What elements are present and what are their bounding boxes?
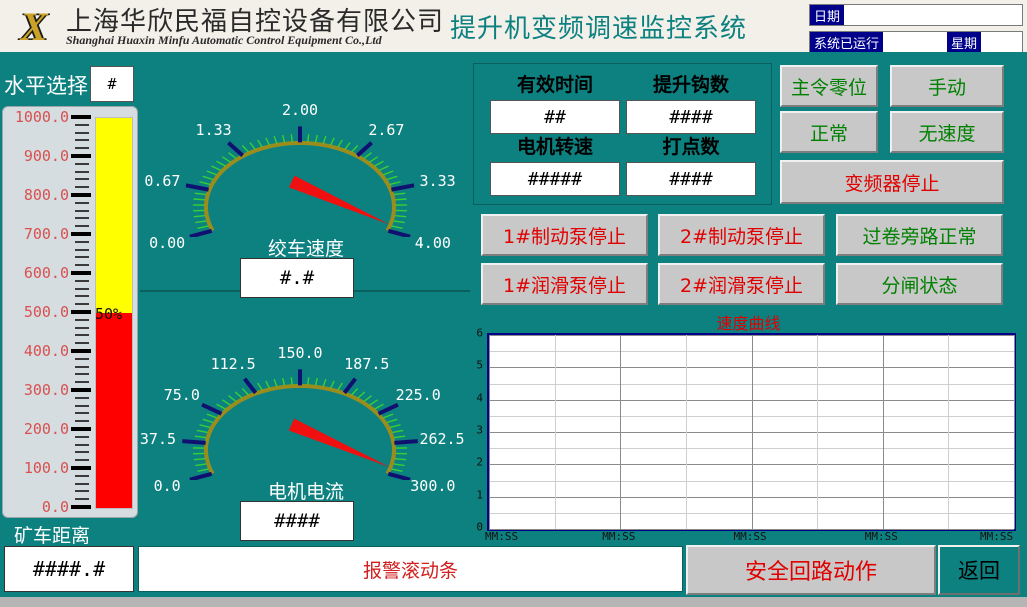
gauge-minor-tick <box>229 396 237 402</box>
field-hoist-hook-count: 提升钩数 #### <box>626 70 756 134</box>
gauge-minor-tick <box>387 176 397 179</box>
gauge-needle <box>289 176 389 225</box>
mine-car-distance-value: ####.# <box>4 546 134 592</box>
data-field-panel: 有效时间 ## 提升钩数 #### 电机转速 ##### 打点数 #### <box>473 63 772 205</box>
bar-tick-minor <box>75 303 89 305</box>
gauge-major-tick <box>391 185 414 189</box>
runtime-label: 系统已运行 <box>810 32 883 52</box>
gauge-tick-label: 2.00 <box>282 101 318 119</box>
gauge-minor-tick <box>207 171 217 175</box>
chart-y-tick-label: 5 <box>469 359 483 372</box>
bar-tick-label: 800.0 <box>24 186 69 204</box>
gauge-tick-label: 3.33 <box>420 172 456 190</box>
gauge-needle <box>289 419 390 467</box>
gauge-minor-tick <box>250 143 255 150</box>
gauge-minor-tick <box>394 436 405 437</box>
gauge-minor-tick <box>195 464 206 466</box>
gauge-minor-tick <box>323 136 326 143</box>
bar-tick-minor <box>75 241 89 243</box>
weekday-value[interactable] <box>981 32 1007 52</box>
gauge-minor-tick <box>229 153 237 159</box>
field-value: ##### <box>490 162 620 196</box>
bar-tick-minor <box>75 171 89 173</box>
gauge-minor-tick <box>193 199 204 200</box>
bar-tick-minor <box>75 280 89 282</box>
bar-scale: 1000.0900.0800.0700.0600.0500.0400.0300.… <box>7 113 93 511</box>
chart-y-tick-label: 2 <box>469 456 483 469</box>
bar-tick-major <box>71 388 91 392</box>
bar-tick-minor <box>75 373 89 375</box>
gauge-motor-current: 0.037.575.0112.5150.0187.5225.0262.5300.… <box>146 305 466 537</box>
status-button-overwind-bypass-normal[interactable]: 过卷旁路正常 <box>836 214 1003 256</box>
gauge-minor-tick <box>258 140 262 147</box>
gauge-minor-tick <box>370 400 378 405</box>
chart-y-tick-label: 6 <box>469 327 483 340</box>
gauge-tick-label: 0.67 <box>144 172 180 190</box>
field-value: ## <box>490 100 620 134</box>
gauge-minor-tick <box>323 379 326 386</box>
gauge-minor-tick <box>197 430 208 432</box>
gauge-minor-tick <box>222 157 230 162</box>
bar-tick-minor <box>75 397 89 399</box>
gauge-minor-tick <box>352 146 358 152</box>
status-button-safety-circuit-action[interactable]: 安全回路动作 <box>686 545 936 595</box>
gauge-minor-tick <box>338 140 342 147</box>
gauge-minor-tick <box>283 378 285 386</box>
bar-tick-minor <box>75 295 89 297</box>
bar-tick-major <box>71 115 91 119</box>
gauge-minor-tick <box>392 430 403 432</box>
chart-y-tick-label: 4 <box>469 391 483 404</box>
bar-tick-minor <box>75 178 89 180</box>
chart-gridline-v <box>883 335 884 529</box>
bar-tick-minor <box>75 381 89 383</box>
bar-tick-minor <box>75 139 89 141</box>
system-title: 提升机变频调速监控系统 <box>450 8 747 45</box>
gauge-minor-tick <box>217 161 226 166</box>
field-motor-speed: 电机转速 ##### <box>490 132 620 196</box>
gauge-title: 绞车速度 <box>146 234 466 261</box>
bar-tick-minor <box>75 264 89 266</box>
chart-x-tick-label: MM:SS <box>980 530 1013 543</box>
gauge-minor-tick <box>345 143 350 150</box>
date-label: 日期 <box>810 5 844 25</box>
field-caption: 电机转速 <box>490 132 620 159</box>
gauge-minor-tick <box>242 146 248 152</box>
bar-tick-label: 900.0 <box>24 147 69 165</box>
gauge-dial <box>146 62 466 237</box>
gauge-minor-tick <box>394 464 405 466</box>
bar-tick-minor <box>75 202 89 204</box>
gauge-minor-tick <box>207 414 217 418</box>
status-button-breaker-open[interactable]: 分闸状态 <box>836 263 1003 305</box>
date-row: 日期 <box>809 4 1023 26</box>
status-button-no-speed[interactable]: 无速度 <box>890 111 1004 153</box>
chart-y-tick-label: 0 <box>469 521 483 534</box>
bar-tick-minor <box>75 132 89 134</box>
bar-tick-minor <box>75 217 89 219</box>
bar-tick-minor <box>75 420 89 422</box>
bar-tick-minor <box>75 210 89 212</box>
alarm-scroll-bar[interactable]: 报警滚动条 <box>138 546 683 592</box>
gauge-minor-tick <box>195 221 206 223</box>
gauge-minor-tick <box>379 166 388 170</box>
chart-y-tick-label: 1 <box>469 488 483 501</box>
bar-tick-minor <box>75 483 89 485</box>
status-button-normal[interactable]: 正常 <box>780 111 878 153</box>
bar-tick-minor <box>75 147 89 149</box>
bar-tick-minor <box>75 186 89 188</box>
bar-tick-minor <box>75 444 89 446</box>
bar-tick-label: 400.0 <box>24 342 69 360</box>
gauge-minor-tick <box>315 135 317 143</box>
bar-tick-major <box>71 232 91 236</box>
bar-tick-minor <box>75 342 89 344</box>
gauge-minor-tick <box>266 138 270 145</box>
gauge-minor-tick <box>394 193 405 194</box>
gauge-minor-tick <box>383 171 393 175</box>
bar-tick-minor <box>75 334 89 336</box>
header-bar: X 上海华欣民福自控设备有限公司 Shanghai Huaxin Minfu A… <box>0 0 1027 52</box>
bar-fill-upper <box>96 118 132 313</box>
gauge-minor-tick <box>235 392 242 398</box>
bar-tick-major <box>71 310 91 314</box>
gauge-minor-tick <box>395 216 406 217</box>
bar-tick-major <box>71 427 91 431</box>
field-signal-point-count: 打点数 #### <box>626 132 756 196</box>
gauge-minor-tick <box>217 404 226 409</box>
x-logo-icon: X <box>6 2 62 50</box>
gauge-major-tick <box>394 441 417 443</box>
field-caption: 有效时间 <box>490 70 620 97</box>
gauge-minor-tick <box>387 419 397 422</box>
gauge-minor-tick <box>274 379 277 386</box>
gauge-minor-tick <box>338 383 342 390</box>
gauge-minor-tick <box>274 136 277 143</box>
chart-gridline-v <box>555 335 556 529</box>
gauge-minor-tick <box>258 383 262 390</box>
bar-tick-label: 100.0 <box>24 459 69 477</box>
gauge-major-tick <box>245 379 256 393</box>
bar-tick-minor <box>75 163 89 165</box>
bar-tick-major <box>71 349 91 353</box>
gauge-tick-label: 187.5 <box>344 355 389 373</box>
gauge-minor-tick <box>203 419 213 422</box>
runtime-value[interactable] <box>883 32 947 52</box>
bar-tick-minor <box>75 319 89 321</box>
gauge-minor-tick <box>395 199 406 200</box>
bar-tick-label: 200.0 <box>24 420 69 438</box>
status-button-inverter-stopped[interactable]: 变频器停止 <box>780 160 1004 204</box>
gauge-minor-tick <box>395 459 406 460</box>
bar-tick-minor <box>75 249 89 251</box>
field-value: #### <box>626 162 756 196</box>
bar-tick-minor <box>75 124 89 126</box>
gauge-minor-tick <box>195 436 206 437</box>
bar-tick-label: 300.0 <box>24 381 69 399</box>
gauge-minor-tick <box>390 425 401 428</box>
bar-tick-major <box>71 466 91 470</box>
gauge-minor-tick <box>222 400 230 405</box>
mine-car-distance-label: 矿车距离 <box>14 521 90 548</box>
level-select-label: 水平选择 <box>4 70 88 100</box>
chart-gridline-v <box>686 335 687 529</box>
bar-tick-minor <box>75 451 89 453</box>
chart-gridline-v <box>948 335 949 529</box>
chart-gridline-v <box>1014 335 1015 529</box>
gauge-minor-tick <box>203 176 213 179</box>
bar-tick-major <box>71 193 91 197</box>
chart-y-tick-label: 3 <box>469 424 483 437</box>
gauge-minor-tick <box>358 392 365 398</box>
gauge-minor-tick <box>390 182 401 185</box>
hmi-screen: X 上海华欣民福自控设备有限公司 Shanghai Huaxin Minfu A… <box>0 0 1027 607</box>
chart-x-tick-label: MM:SS <box>485 530 518 543</box>
field-caption: 提升钩数 <box>626 70 756 97</box>
bar-tick-label: 700.0 <box>24 225 69 243</box>
weekday-label: 星期 <box>947 32 981 52</box>
gauge-minor-tick <box>375 404 384 409</box>
bar-tick-major <box>71 154 91 158</box>
bar-tick-minor <box>75 327 89 329</box>
gauge-minor-tick <box>375 161 384 166</box>
gauge-minor-tick <box>283 135 285 143</box>
gauge-major-tick <box>182 441 205 443</box>
gauge-title: 电机电流 <box>146 477 466 504</box>
bar-tick-label: 0.0 <box>42 498 69 516</box>
gauge-tick-label: 37.5 <box>140 430 176 448</box>
gauge-minor-tick <box>315 378 317 386</box>
chart-gridline-v <box>817 335 818 529</box>
chart-title: 速度曲线 <box>470 310 1027 334</box>
gauge-minor-tick <box>199 182 210 185</box>
bar-tick-minor <box>75 288 89 290</box>
gauge-minor-tick <box>291 134 292 142</box>
gauge-minor-tick <box>211 166 220 170</box>
status-button-brake-pump-2-stopped[interactable]: 2#制动泵停止 <box>658 214 825 256</box>
status-button-lube-pump-1-stopped[interactable]: 1#润滑泵停止 <box>481 263 648 305</box>
gauge-minor-tick <box>266 381 270 388</box>
gauge-minor-tick <box>308 134 309 142</box>
bar-fill-lower <box>96 313 132 508</box>
field-caption: 打点数 <box>626 132 756 159</box>
gauge-major-tick <box>344 379 355 393</box>
gauge-minor-tick <box>194 459 205 460</box>
gauge-minor-tick <box>291 377 292 385</box>
bar-tick-minor <box>75 405 89 407</box>
level-select-value[interactable]: # <box>90 66 134 102</box>
bar-tick-minor <box>75 358 89 360</box>
chart-x-tick-label: MM:SS <box>734 530 767 543</box>
bar-tick-major <box>71 505 91 509</box>
gauge-minor-tick <box>194 216 205 217</box>
gauge-minor-tick <box>331 381 335 388</box>
gauge-winch-speed: 0.000.671.332.002.673.334.00绞车速度#.# <box>146 62 466 290</box>
gauge-tick-label: 112.5 <box>211 355 256 373</box>
company-name-en: Shanghai Huaxin Minfu Automatic Control … <box>66 33 382 48</box>
gauge-minor-tick <box>364 396 372 402</box>
gauge-tick-label: 75.0 <box>164 386 200 404</box>
gauge-value-box: #### <box>240 501 354 541</box>
bar-tick-label: 500.0 <box>24 303 69 321</box>
bar-tick-minor <box>75 366 89 368</box>
field-effective-time: 有效时间 ## <box>490 70 620 134</box>
gauge-minor-tick <box>197 226 208 228</box>
gauge-value-box: #.# <box>240 258 354 298</box>
status-button-manual[interactable]: 手动 <box>890 65 1004 107</box>
chart-gridline-v <box>489 335 490 529</box>
footer-bar <box>0 597 1027 607</box>
bar-tick-minor <box>75 436 89 438</box>
status-button-master-zero[interactable]: 主令零位 <box>780 65 878 107</box>
gauge-minor-tick <box>197 469 208 471</box>
status-button-lube-pump-2-stopped[interactable]: 2#润滑泵停止 <box>658 263 825 305</box>
gauge-tick-label: 150.0 <box>277 344 322 362</box>
gauge-minor-tick <box>352 389 358 395</box>
gauge-minor-tick <box>242 389 248 395</box>
return-button[interactable]: 返回 <box>938 545 1020 595</box>
gauge-minor-tick <box>392 226 403 228</box>
gauge-minor-tick <box>331 138 335 145</box>
bar-tick-major <box>71 271 91 275</box>
gauge-tick-label: 2.67 <box>368 121 404 139</box>
bar-tick-minor <box>75 459 89 461</box>
bar-tick-minor <box>75 490 89 492</box>
bar-percent-label: 50% <box>95 305 122 323</box>
bar-tick-label: 1000.0 <box>15 108 69 126</box>
chart-gridline-v <box>620 335 621 529</box>
gauge-minor-tick <box>370 157 378 162</box>
bar-tick-label: 600.0 <box>24 264 69 282</box>
chart-x-tick-label: MM:SS <box>602 530 635 543</box>
field-value: #### <box>626 100 756 134</box>
date-value[interactable] <box>844 5 1022 25</box>
gauge-minor-tick <box>392 469 403 471</box>
bar-tick-minor <box>75 256 89 258</box>
gauge-minor-tick <box>195 193 206 194</box>
gauge-minor-tick <box>364 153 372 159</box>
gauge-tick-label: 262.5 <box>419 430 464 448</box>
mine-car-distance-bar-panel: 1000.0900.0800.0700.0600.0500.0400.0300.… <box>2 106 138 518</box>
chart-gridline-v <box>752 335 753 529</box>
bar-tick-minor <box>75 412 89 414</box>
gauge-minor-tick <box>199 425 210 428</box>
gauge-tick-label: 1.33 <box>196 121 232 139</box>
chart-x-tick-label: MM:SS <box>865 530 898 543</box>
bar-tick-minor <box>75 475 89 477</box>
speed-curve-chart <box>487 333 1016 531</box>
gauge-tick-label: 225.0 <box>396 386 441 404</box>
runtime-row: 系统已运行 星期 <box>809 31 1023 52</box>
gauge-minor-tick <box>394 221 405 223</box>
status-button-brake-pump-1-stopped[interactable]: 1#制动泵停止 <box>481 214 648 256</box>
gauge-minor-tick <box>383 414 393 418</box>
bar-tick-minor <box>75 225 89 227</box>
gauge-major-tick <box>186 185 209 189</box>
gauge-minor-tick <box>308 377 309 385</box>
bar-tick-minor <box>75 498 89 500</box>
